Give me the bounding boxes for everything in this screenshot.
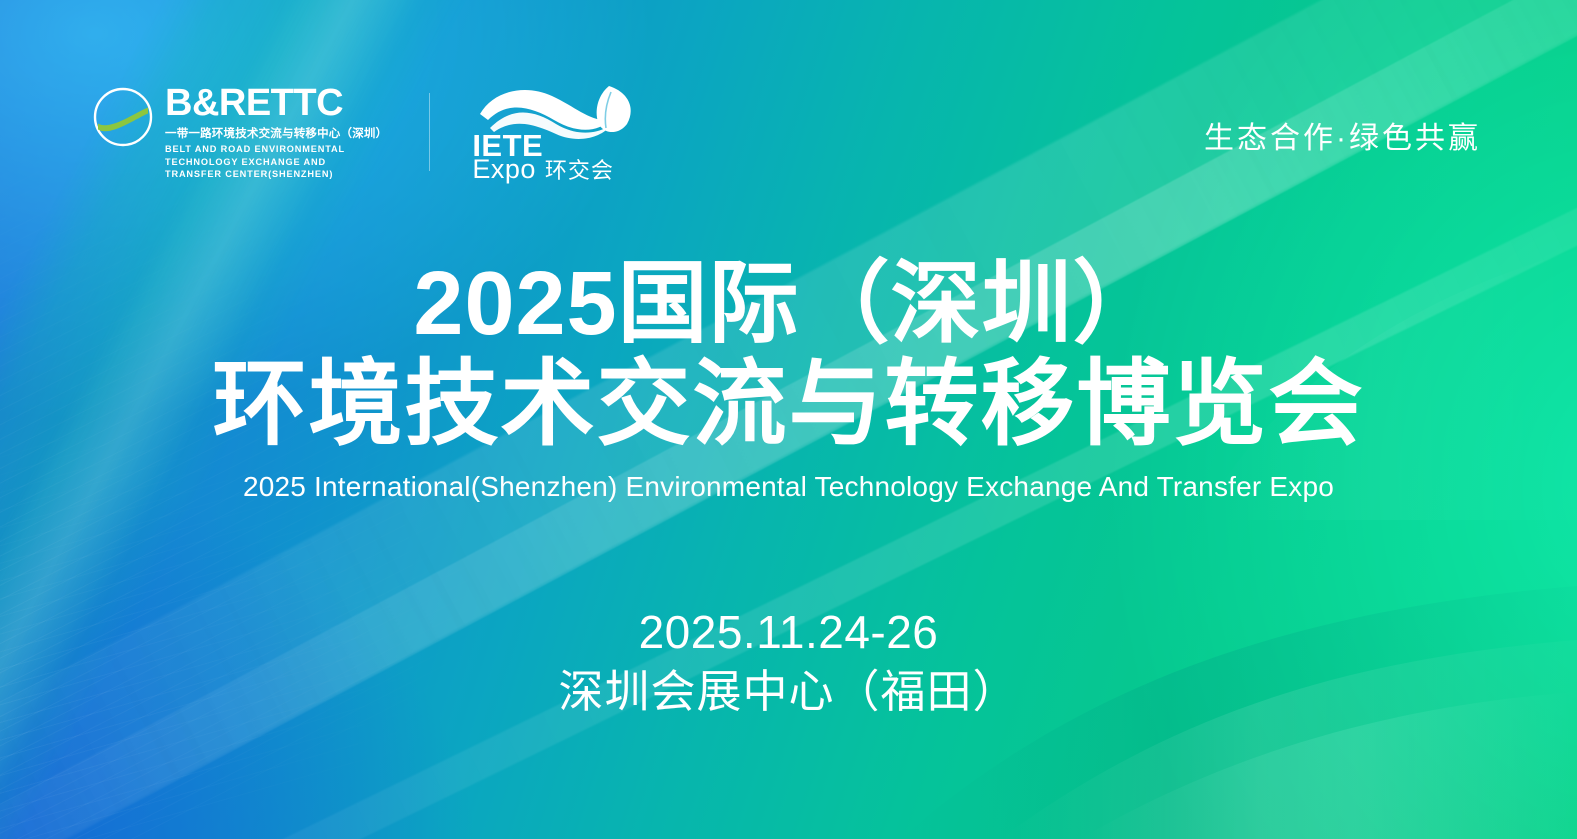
title-line-2: 环境技术交流与转移博览会	[0, 355, 1577, 454]
title-block: 2025国际（深圳） 环境技术交流与转移博览会 2025 Internation…	[0, 258, 1577, 503]
title-english-subtitle: 2025 International(Shenzhen) Environment…	[0, 471, 1577, 503]
brettc-english-name: BELT AND ROAD ENVIRONMENTAL TECHNOLOGY E…	[165, 143, 371, 180]
event-meta: 2025.11.24-26 深圳会展中心（福田）	[0, 605, 1577, 720]
brettc-text-block: B&RETTC 一带一路环境技术交流与转移中心（深圳） BELT AND ROA…	[165, 84, 387, 180]
title-line-1: 2025国际（深圳）	[0, 258, 1577, 351]
circle-with-green-band-icon	[92, 86, 154, 153]
iete-expo-logo[interactable]: IETE Expo 环交会	[472, 84, 640, 180]
iete-expo-word: Expo	[472, 156, 536, 183]
logo-group: B&RETTC 一带一路环境技术交流与转移中心（深圳） BELT AND ROA…	[92, 84, 640, 180]
brettc-wordmark: B&RETTC	[165, 84, 387, 122]
banner-header: B&RETTC 一带一路环境技术交流与转移中心（深圳） BELT AND ROA…	[92, 84, 1481, 180]
logo-divider	[429, 93, 430, 171]
banner-slogan: 生态合作·绿色共赢	[1204, 113, 1481, 157]
brettc-logo[interactable]: B&RETTC 一带一路环境技术交流与转移中心（深圳） BELT AND ROA…	[92, 84, 387, 180]
iete-chinese-short: 环交会	[545, 160, 614, 182]
event-banner: B&RETTC 一带一路环境技术交流与转移中心（深圳） BELT AND ROA…	[0, 0, 1577, 839]
iete-sub-lockup: Expo 环交会	[472, 156, 614, 183]
banner-content: B&RETTC 一带一路环境技术交流与转移中心（深圳） BELT AND ROA…	[0, 0, 1577, 839]
event-venue: 深圳会展中心（福田）	[0, 665, 1577, 720]
event-date: 2025.11.24-26	[0, 605, 1577, 659]
brettc-chinese-name: 一带一路环境技术交流与转移中心（深圳）	[165, 127, 387, 141]
